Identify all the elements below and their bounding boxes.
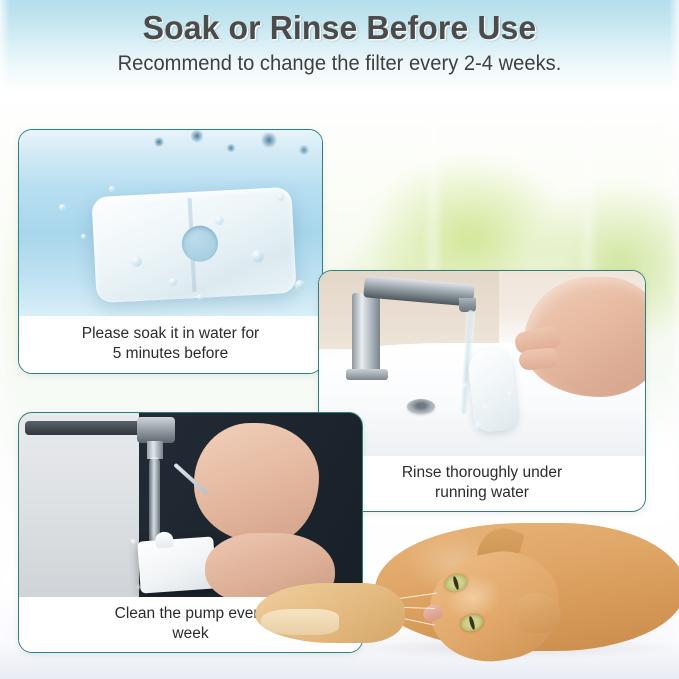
hand-rinsing-filter-under-faucet-photo: [319, 271, 645, 456]
caption-text: Please soak it in water for 5 minutes be…: [82, 324, 259, 364]
sink-scene: [319, 271, 645, 456]
filter-submerged-in-water-photo: [19, 130, 322, 316]
bubble-icon: [295, 280, 305, 290]
cat-ear-second: [517, 593, 561, 633]
water-splash: [139, 130, 322, 178]
faucet-base: [346, 369, 388, 380]
water-spray: [455, 367, 535, 437]
step-card-soak: Please soak it in water for 5 minutes be…: [18, 129, 323, 374]
sink-drain: [407, 399, 435, 414]
card-caption-soak: Please soak it in water for 5 minutes be…: [19, 316, 322, 371]
bubble-icon: [277, 194, 284, 201]
bubble-icon: [169, 278, 177, 286]
orange-tabby-cat-photo: [255, 505, 679, 665]
bubble-icon: [81, 234, 86, 239]
bubble-icon: [59, 204, 66, 211]
cat-paw: [255, 583, 405, 643]
page-subtitle: Recommend to change the filter every 2-4…: [14, 52, 666, 76]
tap-head: [137, 417, 175, 443]
bubble-icon: [251, 250, 264, 263]
bubble-icon: [131, 256, 142, 267]
bubble-icon: [197, 294, 203, 300]
card-caption-rinse: Rinse thoroughly under running water: [319, 456, 645, 509]
step-card-rinse: Rinse thoroughly under running water: [318, 270, 646, 512]
header-fade-overlay: [0, 78, 679, 104]
bubble-icon: [215, 216, 224, 225]
page-title: Soak or Rinse Before Use: [10, 9, 669, 47]
caption-text: Clean the pump every week: [115, 604, 267, 644]
caption-text: Rinse thoroughly under running water: [402, 463, 562, 503]
bubble-icon: [109, 186, 115, 192]
water-scene: [19, 130, 322, 316]
faucet-post: [352, 293, 380, 373]
infographic-page: Soak or Rinse Before Use Recommend to ch…: [0, 0, 679, 679]
fountain-filter-object: [91, 187, 296, 303]
